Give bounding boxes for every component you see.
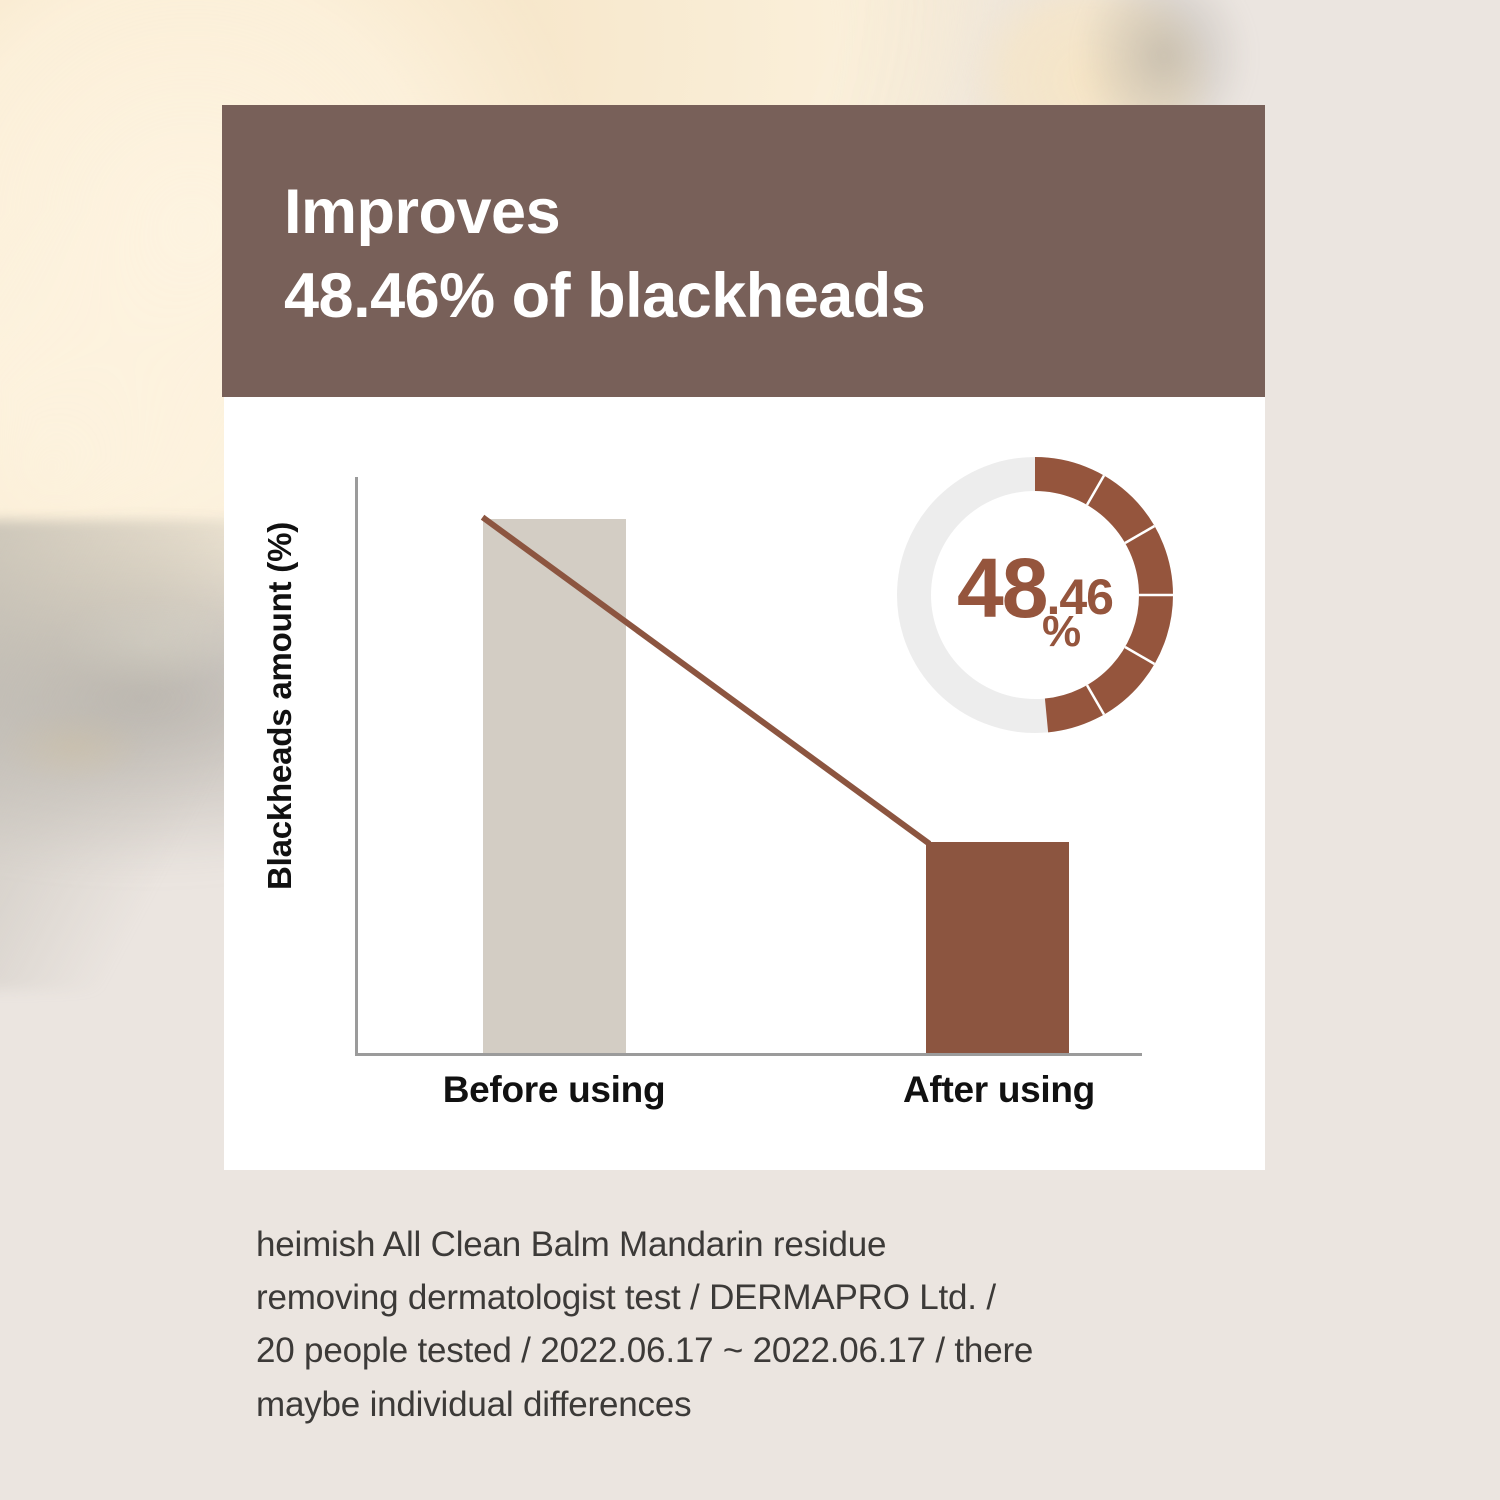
x-tick-label-after: After using xyxy=(854,1069,1144,1111)
donut-whole-number: 48 xyxy=(957,551,1046,627)
donut-gauge: 48 .46 % xyxy=(890,450,1180,740)
y-axis-line xyxy=(355,477,358,1055)
headline-banner: Improves 48.46% of blackheads xyxy=(222,105,1265,397)
bar-chart: Blackheads amount (%) Before using After… xyxy=(224,397,1265,1170)
caption-line-2: removing dermatologist test / DERMAPRO L… xyxy=(256,1271,1266,1324)
caption-line-3: 20 people tested / 2022.06.17 ~ 2022.06.… xyxy=(256,1324,1266,1377)
headline-line-1: Improves xyxy=(284,171,1265,255)
infographic-stage: Improves 48.46% of blackheads Blackheads… xyxy=(0,0,1500,1500)
y-axis-label: Blackheads amount (%) xyxy=(261,466,299,946)
donut-center-value: 48 .46 xyxy=(890,450,1180,740)
donut-percent-sign: % xyxy=(1042,610,1081,654)
caption-line-4: maybe individual differences xyxy=(256,1378,1266,1431)
study-caption: heimish All Clean Balm Mandarin residue … xyxy=(256,1218,1266,1431)
headline-line-2: 48.46% of blackheads xyxy=(284,255,1265,339)
x-tick-label-before: Before using xyxy=(404,1069,704,1111)
x-axis-line xyxy=(355,1053,1142,1056)
bar-after-using xyxy=(926,842,1069,1053)
bar-before-using xyxy=(483,519,626,1053)
caption-line-1: heimish All Clean Balm Mandarin residue xyxy=(256,1218,1266,1271)
